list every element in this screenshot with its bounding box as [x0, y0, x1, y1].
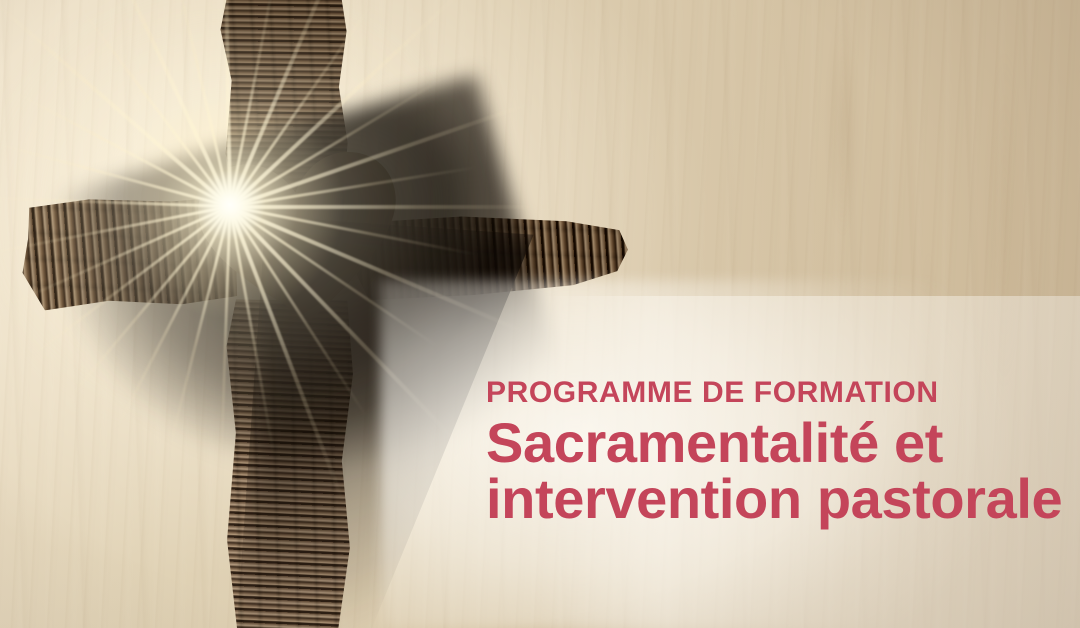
edge-vignette — [0, 0, 1080, 628]
banner-title-line-2: intervention pastorale — [486, 470, 1046, 528]
banner-text-block: PROGRAMME DE FORMATION Sacramentalité et… — [486, 376, 1046, 528]
banner-title-line-1: Sacramentalité et — [486, 414, 1046, 472]
program-kicker-label: PROGRAMME DE FORMATION — [486, 376, 1046, 410]
formation-program-banner: PROGRAMME DE FORMATION Sacramentalité et… — [0, 0, 1080, 628]
